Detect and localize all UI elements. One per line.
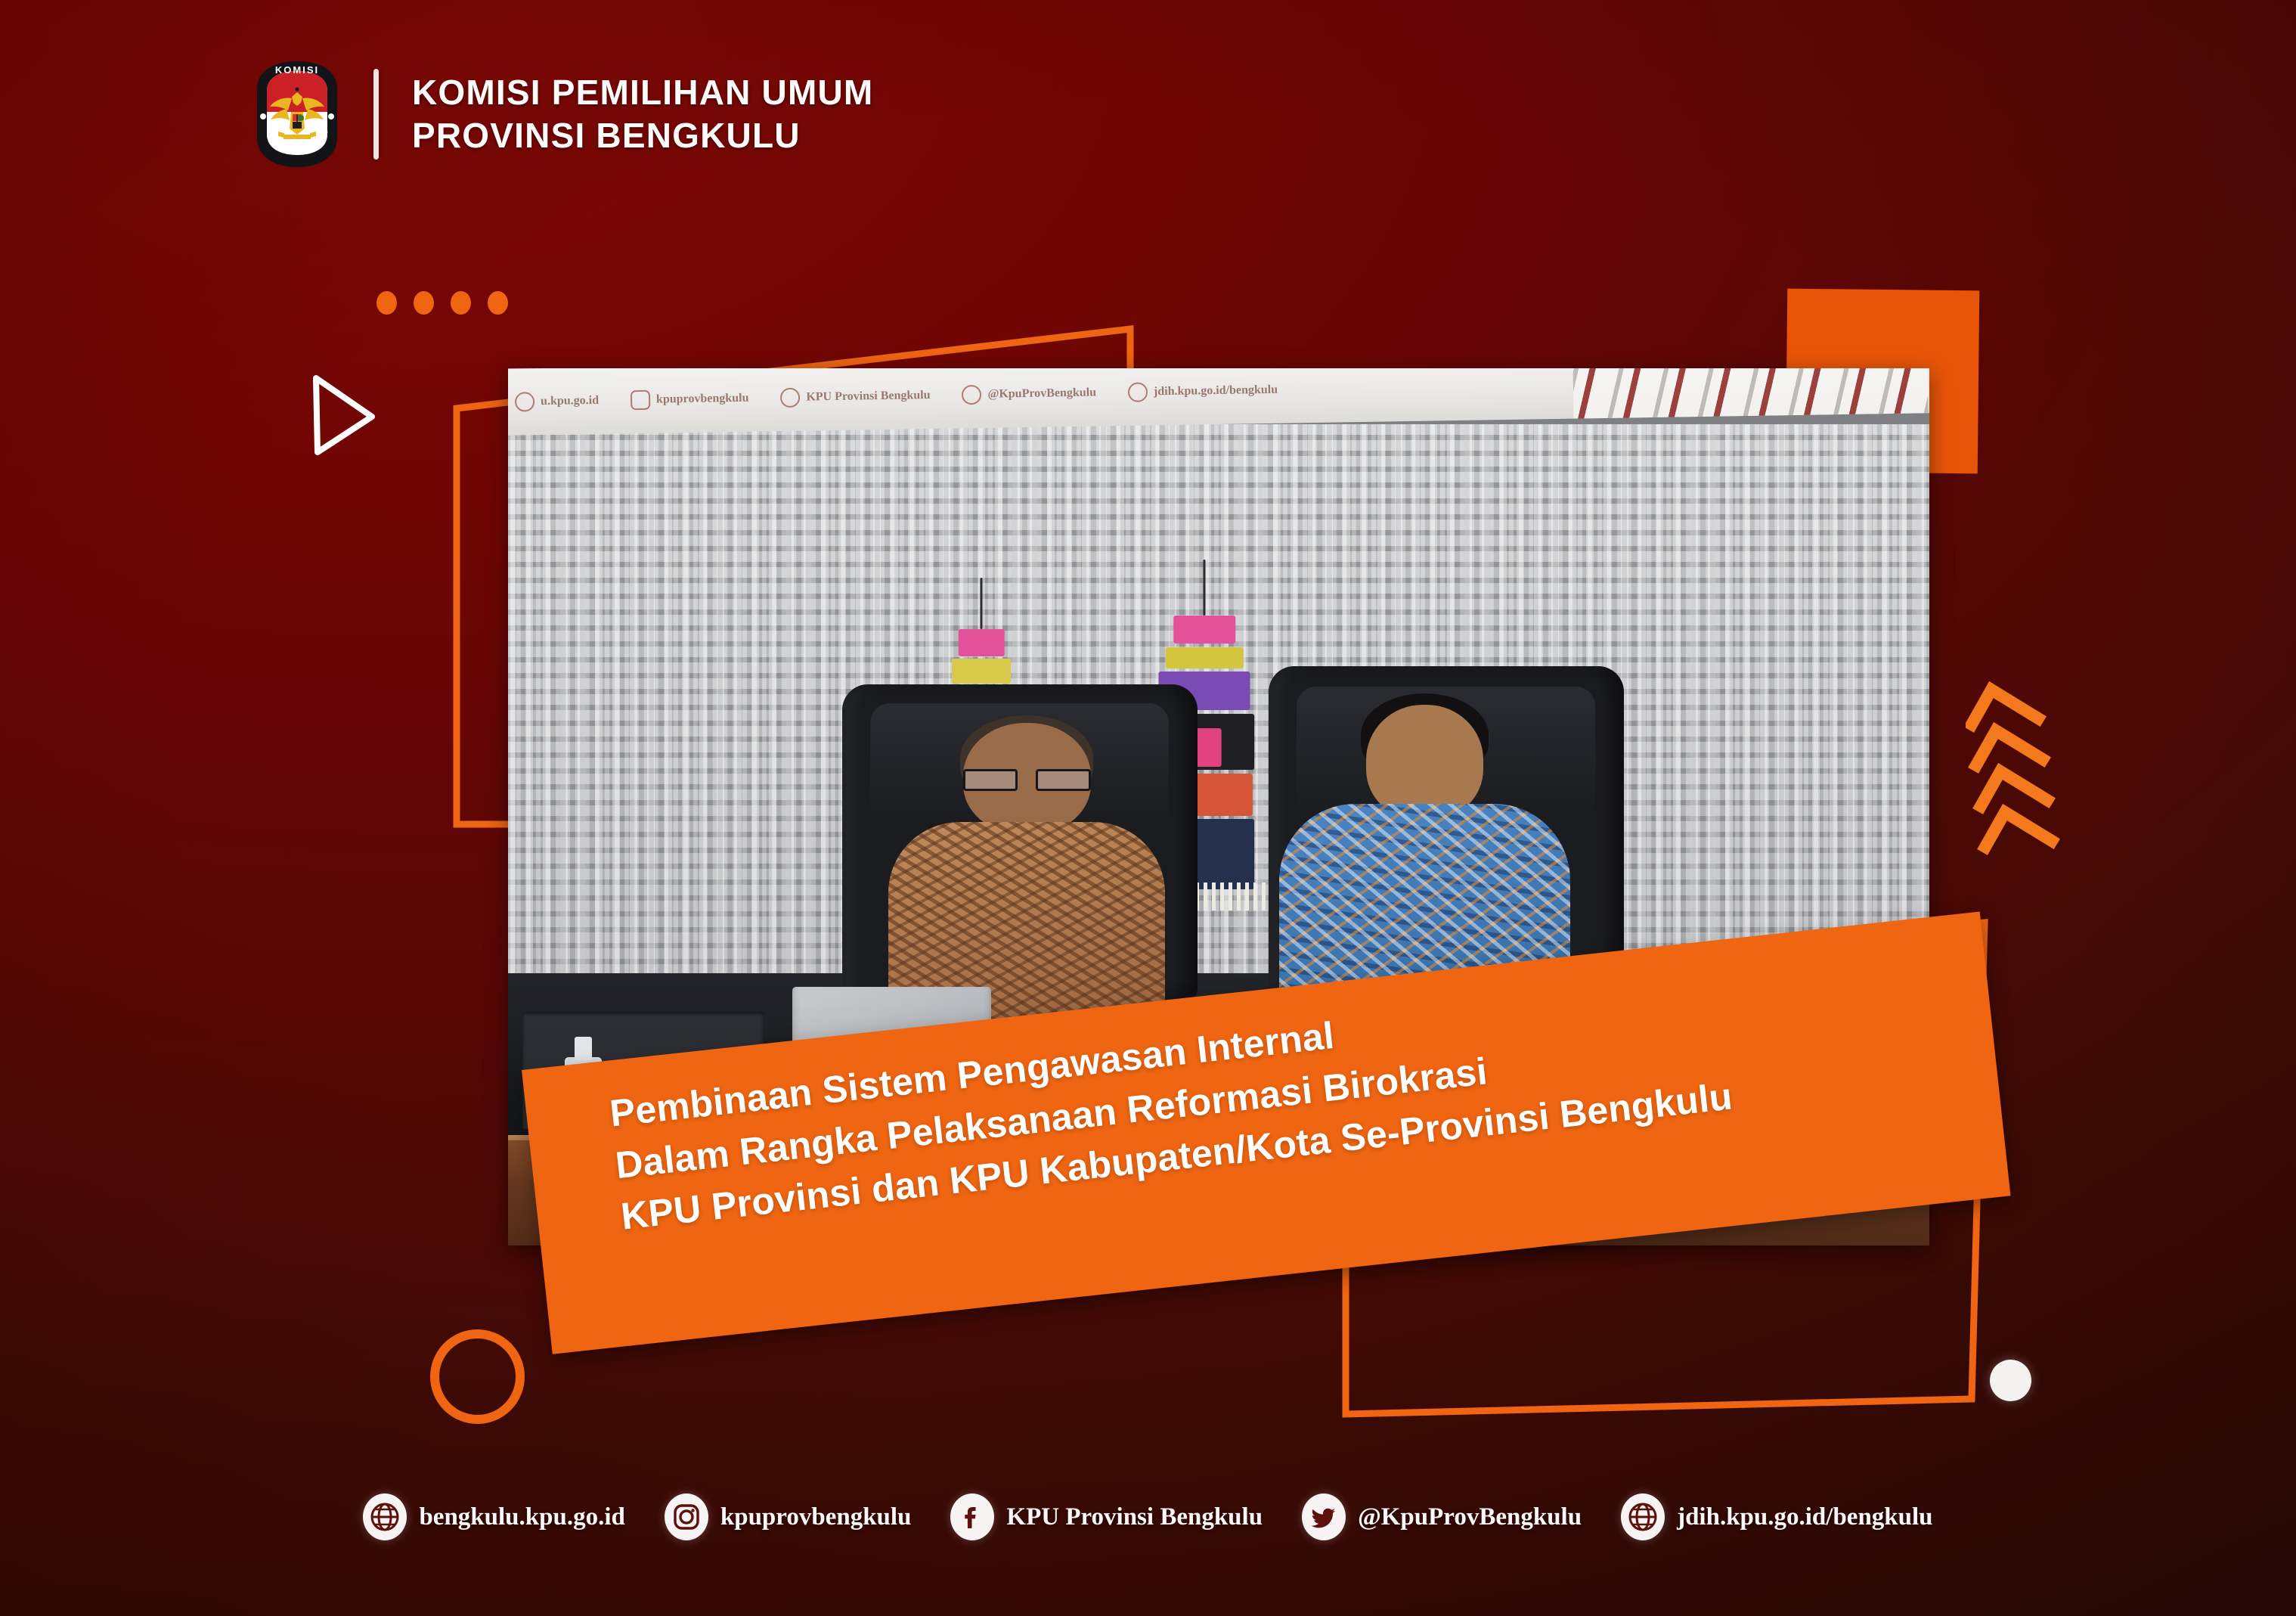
chevron-arrows-icon [1966, 681, 2064, 870]
header-divider [373, 69, 379, 160]
globe-icon [363, 1493, 407, 1540]
header-title-block: KOMISI PEMILIHAN UMUM PROVINSI BENGKULU [412, 74, 873, 154]
footer-item-twitter[interactable]: @KpuProvBengkulu [1302, 1493, 1582, 1540]
orange-ring-decor [430, 1329, 525, 1424]
header-line-2: PROVINSI BENGKULU [412, 117, 873, 154]
dot-1 [376, 291, 397, 315]
footer-social-bar: bengkulu.kpu.go.id kpuprovbengkulu KPU P… [0, 1493, 2296, 1540]
facebook-icon [950, 1493, 994, 1540]
footer-label: KPU Provinsi Bengkulu [1006, 1503, 1263, 1531]
footer-label: jdih.kpu.go.id/bengkulu [1677, 1503, 1932, 1531]
kpu-logo-icon: KOMISI PEMILIHAN UMUM [249, 59, 345, 169]
footer-item-jdih[interactable]: jdih.kpu.go.id/bengkulu [1621, 1493, 1932, 1540]
globe-icon [1621, 1493, 1665, 1540]
white-dot-decor [1990, 1360, 2031, 1401]
svg-text:KOMISI: KOMISI [275, 64, 319, 76]
header: KOMISI PEMILIHAN UMUM KOMISI PEMILIHAN U… [249, 59, 873, 169]
dot-2 [414, 291, 434, 315]
header-line-1: KOMISI PEMILIHAN UMUM [412, 74, 873, 111]
footer-item-facebook[interactable]: KPU Provinsi Bengkulu [950, 1493, 1263, 1540]
footer-item-instagram[interactable]: kpuprovbengkulu [665, 1493, 912, 1540]
footer-label: kpuprovbengkulu [720, 1503, 912, 1531]
instagram-icon [665, 1493, 708, 1540]
footer-label: @KpuProvBengkulu [1358, 1503, 1582, 1531]
twitter-icon [1302, 1493, 1346, 1540]
footer-item-website[interactable]: bengkulu.kpu.go.id [363, 1493, 624, 1540]
footer-label: bengkulu.kpu.go.id [419, 1503, 624, 1531]
